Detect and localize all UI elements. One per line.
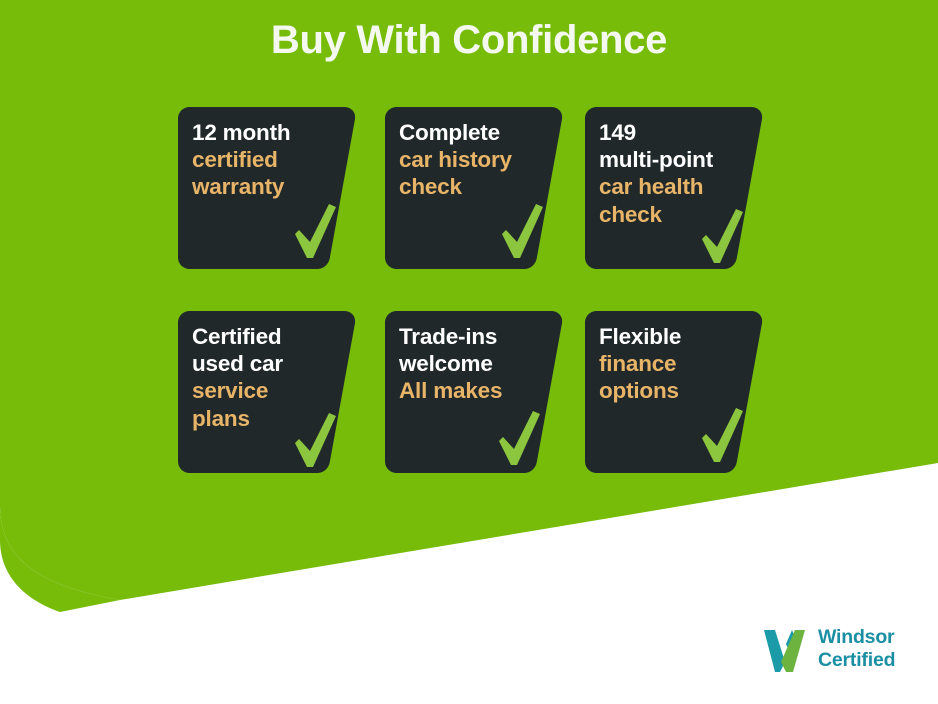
check-icon — [698, 209, 746, 265]
card-line: used car — [192, 350, 344, 377]
card-line: check — [399, 173, 551, 200]
card-line: All makes — [399, 377, 551, 404]
poster-canvas: Buy With Confidence 12 month certified w… — [0, 0, 938, 704]
card-line: service — [192, 377, 344, 404]
check-icon — [495, 411, 543, 467]
card-flexible-finance-options[interactable]: Flexible finance options — [585, 311, 765, 473]
card-trade-ins-welcome-all-makes[interactable]: Trade-ins welcome All makes — [385, 311, 565, 473]
page-title: Buy With Confidence — [0, 18, 938, 62]
windsor-w-icon — [762, 628, 812, 672]
card-line: welcome — [399, 350, 551, 377]
card-text-block: Complete car history check — [399, 119, 551, 201]
check-icon — [698, 408, 746, 464]
card-text-block: 12 month certified warranty — [192, 119, 344, 201]
check-icon — [498, 204, 546, 260]
card-12-month-certified-warranty[interactable]: 12 month certified warranty — [178, 107, 358, 269]
windsor-certified-logo[interactable]: Windsor Certified — [762, 626, 928, 678]
card-line: car health — [599, 173, 751, 200]
card-line: Flexible — [599, 323, 751, 350]
card-text-block: Flexible finance options — [599, 323, 751, 405]
card-line: 149 — [599, 119, 751, 146]
card-line: finance — [599, 350, 751, 377]
card-certified-used-car-service-plans[interactable]: Certified used car service plans — [178, 311, 358, 473]
card-line: certified — [192, 146, 344, 173]
check-icon — [291, 204, 339, 260]
card-line: warranty — [192, 173, 344, 200]
logo-wordmark: Windsor Certified — [818, 626, 895, 671]
card-line: Certified — [192, 323, 344, 350]
card-text-block: Trade-ins welcome All makes — [399, 323, 551, 405]
card-line: options — [599, 377, 751, 404]
card-line: Trade-ins — [399, 323, 551, 350]
card-149-multi-point-car-health-check[interactable]: 149 multi-point car health check — [585, 107, 765, 269]
card-line: car history — [399, 146, 551, 173]
card-line: multi-point — [599, 146, 751, 173]
check-icon — [291, 413, 339, 469]
logo-line-2: Certified — [818, 649, 895, 672]
card-complete-car-history-check[interactable]: Complete car history check — [385, 107, 565, 269]
card-line: 12 month — [192, 119, 344, 146]
logo-line-1: Windsor — [818, 626, 895, 649]
card-line: Complete — [399, 119, 551, 146]
